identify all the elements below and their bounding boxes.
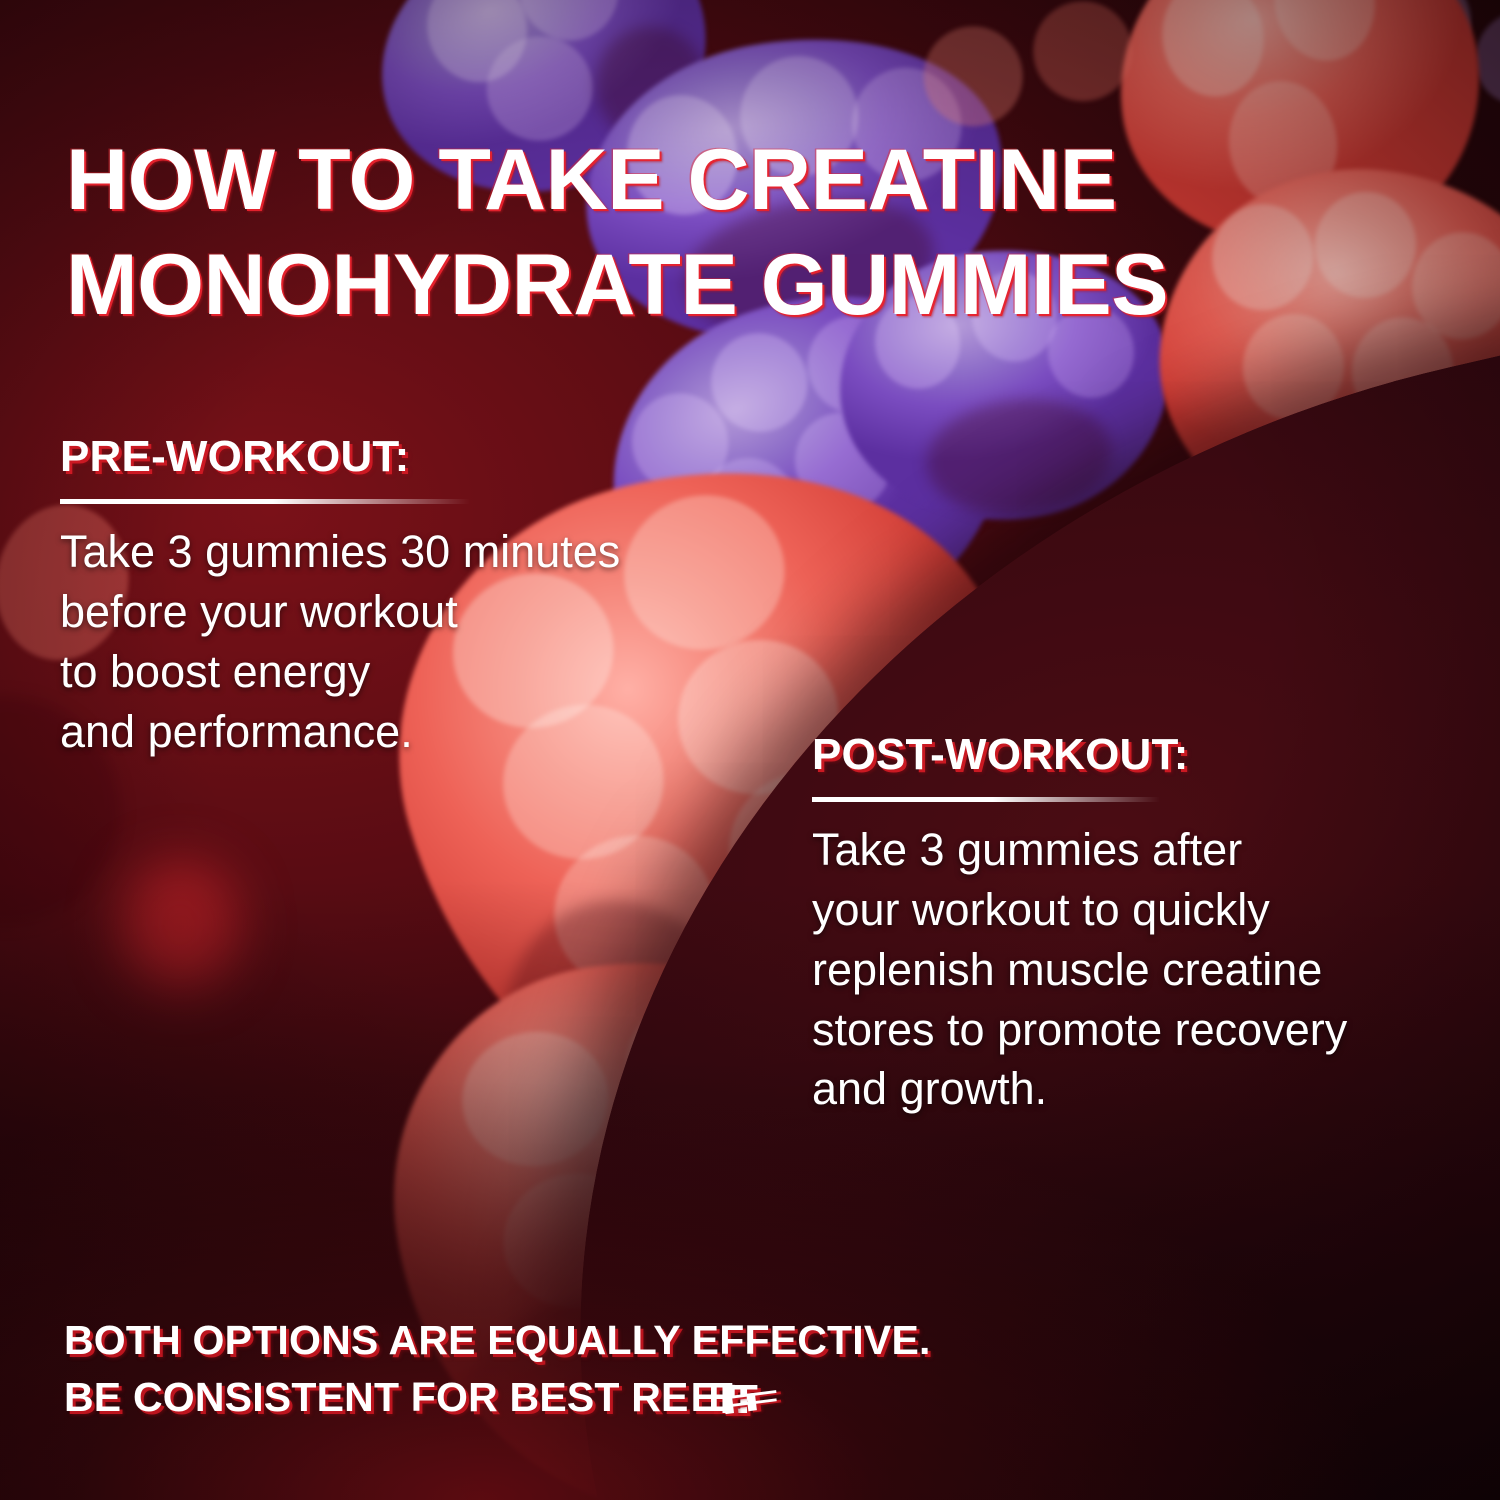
- footer-line-1: BOTH OPTIONS ARE EQUALLY EFFECTIVE.: [64, 1312, 1444, 1369]
- post-workout-line-1: Take 3 gummies after: [812, 820, 1492, 880]
- post-workout-line-5: and growth.: [812, 1059, 1492, 1119]
- page-title: HOW TO TAKE CREATINE MONOHYDRATE GUMMIES: [66, 130, 1466, 337]
- post-workout-heading: POST-WORKOUT:: [812, 730, 1492, 780]
- pre-workout-heading: PRE-WORKOUT:: [60, 432, 840, 482]
- footer-line-2: BE CONSISTENT FOR BEST REEEI'LTFF: [64, 1369, 1444, 1426]
- pre-workout-line-1: Take 3 gummies 30 minutes: [60, 522, 840, 582]
- pre-workout-line-4: and performance.: [60, 702, 840, 762]
- footer-line-2-prefix: BE CONSISTENT FOR BEST RE: [64, 1374, 689, 1420]
- pre-workout-divider: [60, 499, 470, 504]
- footer-glitch-word: EEI'LTFF: [690, 1369, 772, 1426]
- pre-workout-line-3: to boost energy: [60, 642, 840, 702]
- pre-workout-line-2: before your workout: [60, 582, 840, 642]
- infographic-poster: HOW TO TAKE CREATINE MONOHYDRATE GUMMIES…: [0, 0, 1500, 1500]
- post-workout-divider: [812, 797, 1160, 802]
- post-workout-line-2: your workout to quickly: [812, 880, 1492, 940]
- pre-workout-body: Take 3 gummies 30 minutes before your wo…: [60, 522, 840, 761]
- footer-note: BOTH OPTIONS ARE EQUALLY EFFECTIVE. BE C…: [64, 1312, 1444, 1425]
- title-line-1: HOW TO TAKE CREATINE: [66, 130, 1466, 231]
- post-workout-line-4: stores to promote recovery: [812, 1000, 1492, 1060]
- title-line-2: MONOHYDRATE GUMMIES: [66, 235, 1466, 336]
- post-workout-section: POST-WORKOUT: Take 3 gummies after your …: [812, 730, 1492, 1119]
- pre-workout-section: PRE-WORKOUT: Take 3 gummies 30 minutes b…: [60, 432, 840, 761]
- footer-glitch-tail: FF: [718, 1383, 768, 1424]
- post-workout-line-3: replenish muscle creatine: [812, 940, 1492, 1000]
- post-workout-body: Take 3 gummies after your workout to qui…: [812, 820, 1492, 1119]
